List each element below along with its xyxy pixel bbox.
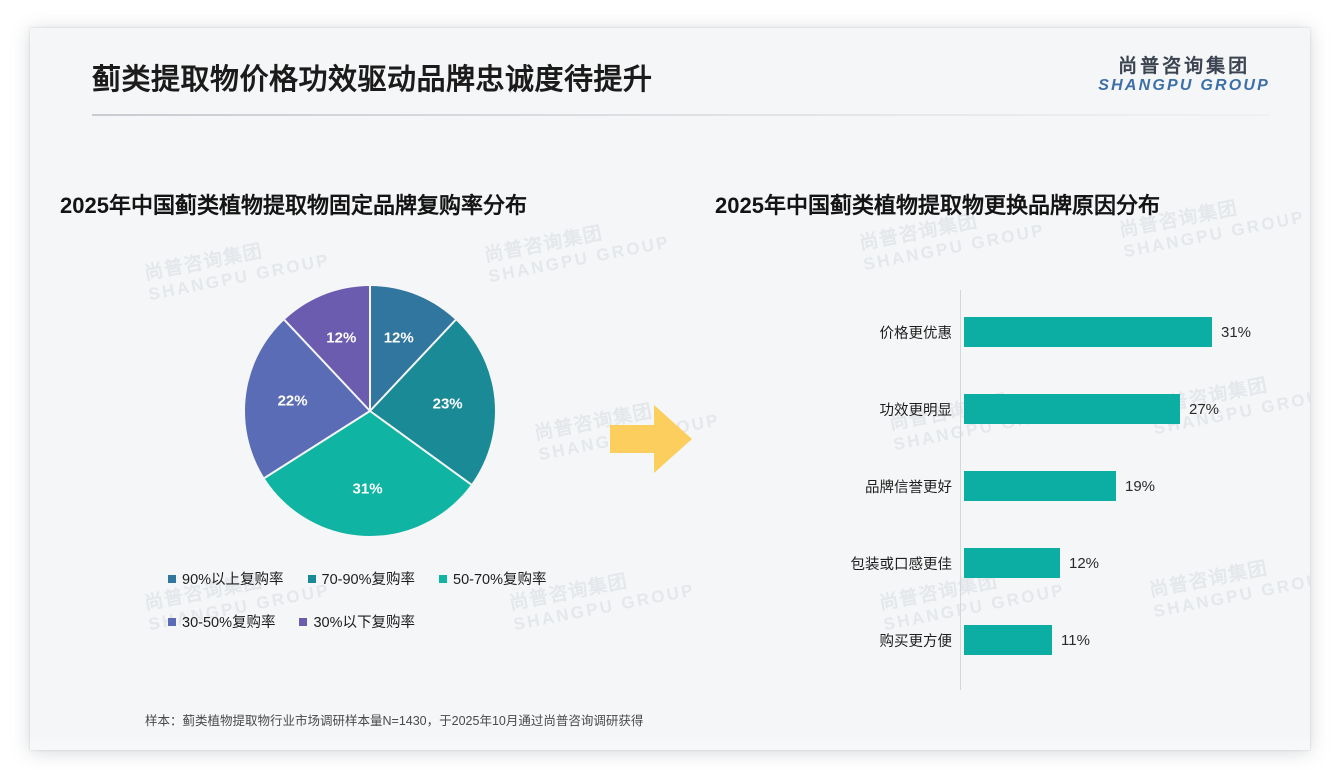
pie-slice-separator xyxy=(369,286,371,411)
watermark-en: SHANGPU GROUP xyxy=(487,232,672,286)
watermark-cn: 尚普咨询集团 xyxy=(143,229,328,286)
switch-reason-bar-chart: 价格更优惠31%功效更明显27%品牌信誉更好19%包装或口感更佳12%购买更方便… xyxy=(730,290,1290,690)
bar-fill[interactable] xyxy=(964,394,1180,424)
pie-slice-separator xyxy=(264,410,371,479)
legend-label: 70-90%复购率 xyxy=(322,568,415,589)
bar-category-label: 购买更方便 xyxy=(730,630,964,651)
bar-value-label: 27% xyxy=(1189,401,1219,418)
legend-label: 50-70%复购率 xyxy=(453,568,546,589)
pie-slice-label: 31% xyxy=(353,480,383,497)
brand-logo: 尚普咨询集团 SHANGPU GROUP xyxy=(1098,56,1270,95)
brand-logo-en: SHANGPU GROUP xyxy=(1098,77,1270,95)
slide-header: 蓟类提取物价格功效驱动品牌忠诚度待提升 尚普咨询集团 SHANGPU GROUP xyxy=(30,28,1310,118)
page-title: 蓟类提取物价格功效驱动品牌忠诚度待提升 xyxy=(92,56,653,98)
legend-item[interactable]: 70-90%复购率 xyxy=(308,568,415,589)
bar-row: 功效更明显27% xyxy=(730,391,1290,427)
bar-fill[interactable] xyxy=(964,317,1212,347)
bar-value-label: 31% xyxy=(1221,324,1251,341)
bar-row: 品牌信誉更好19% xyxy=(730,468,1290,504)
legend-item[interactable]: 30-50%复购率 xyxy=(168,611,275,632)
bar-row: 购买更方便11% xyxy=(730,622,1290,658)
legend-item[interactable]: 50-70%复购率 xyxy=(439,568,546,589)
left-chart-title: 2025年中国蓟类植物提取物固定品牌复购率分布 xyxy=(60,188,527,220)
pie-slice-label: 23% xyxy=(433,395,463,412)
bar-value-label: 12% xyxy=(1069,555,1099,572)
legend-swatch-icon xyxy=(168,575,176,583)
bar-fill[interactable] xyxy=(964,548,1060,578)
legend-label: 90%以上复购率 xyxy=(182,568,284,589)
slide-canvas: 尚普咨询集团SHANGPU GROUP 尚普咨询集团SHANGPU GROUP … xyxy=(30,28,1310,750)
slide-footer: ©2025.12 SHANGPU GROUP www.shangpu-china… xyxy=(30,740,1310,750)
legend-swatch-icon xyxy=(299,618,307,626)
bar-category-label: 品牌信誉更好 xyxy=(730,476,964,497)
bar-category-label: 价格更优惠 xyxy=(730,322,964,343)
right-chart-title: 2025年中国蓟类植物提取物更换品牌原因分布 xyxy=(715,188,1160,220)
legend-row: 30-50%复购率30%以下复购率 xyxy=(168,611,638,632)
source-footnote: 样本：蓟类植物提取物行业市场调研样本量N=1430，于2025年10月通过尚普咨… xyxy=(145,710,643,729)
legend-swatch-icon xyxy=(439,575,447,583)
bar-row: 包装或口感更佳12% xyxy=(730,545,1290,581)
legend-item[interactable]: 90%以上复购率 xyxy=(168,568,284,589)
right-arrow-icon xyxy=(610,403,692,475)
bar-value-label: 19% xyxy=(1125,478,1155,495)
legend-swatch-icon xyxy=(308,575,316,583)
pie-slice-label: 12% xyxy=(384,330,414,347)
watermark-en: SHANGPU GROUP xyxy=(862,220,1047,274)
brand-logo-cn: 尚普咨询集团 xyxy=(1098,56,1270,77)
bar-category-label: 包装或口感更佳 xyxy=(730,553,964,574)
header-divider xyxy=(92,114,1270,116)
legend-swatch-icon xyxy=(168,618,176,626)
bar-fill[interactable] xyxy=(964,625,1052,655)
pie-legend: 90%以上复购率70-90%复购率50-70%复购率30-50%复购率30%以下… xyxy=(168,568,638,654)
bar-fill[interactable] xyxy=(964,471,1116,501)
pie-slice-separator xyxy=(369,410,471,485)
legend-item[interactable]: 30%以下复购率 xyxy=(299,611,415,632)
bar-category-label: 功效更明显 xyxy=(730,399,964,420)
bar-row: 价格更优惠31% xyxy=(730,314,1290,350)
legend-label: 30%以下复购率 xyxy=(313,611,415,632)
pie-slice-label: 22% xyxy=(278,393,308,410)
legend-label: 30-50%复购率 xyxy=(182,611,275,632)
legend-row: 90%以上复购率70-90%复购率50-70%复购率 xyxy=(168,568,638,589)
bar-value-label: 11% xyxy=(1061,632,1090,649)
repurchase-rate-pie-chart: 12%23%31%22%12% xyxy=(245,286,495,536)
pie-slice-label: 12% xyxy=(326,330,356,347)
